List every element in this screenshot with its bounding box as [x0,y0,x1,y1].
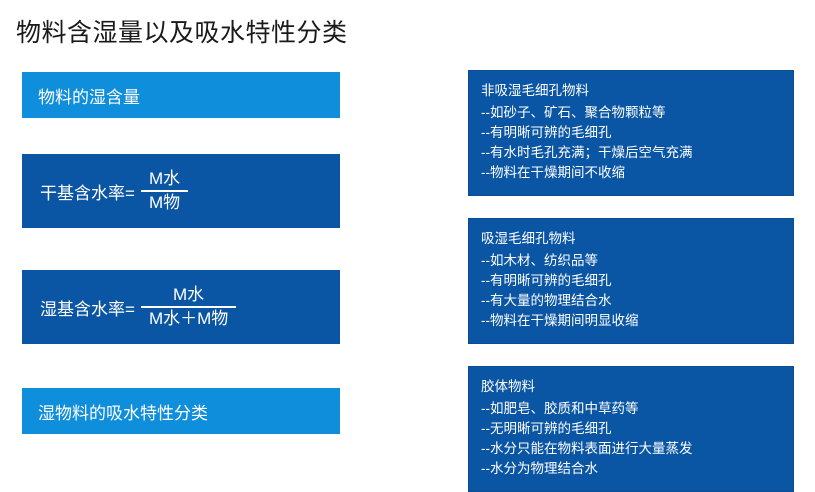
wet-basis-fraction: M水 M水＋M物 [141,286,236,327]
info-box-line: --无明晰可辨的毛细孔 [481,419,781,439]
dry-basis-fraction: M水 M物 [141,170,188,211]
spacer-right-1 [468,196,794,218]
info-box-line: --有大量的物理结合水 [481,291,781,311]
moisture-content-band: 物料的湿含量 [22,72,340,118]
spacer-1 [22,118,340,154]
info-box-line: --水分为物理结合水 [481,459,781,479]
info-box-title: 吸湿毛细孔物料 [481,229,781,249]
absorption-classification-band: 湿物料的吸水特性分类 [22,388,340,434]
wet-basis-formula-label: 湿基含水率= [40,295,135,320]
spacer-2 [22,228,340,270]
info-box-line: --物料在干燥期间不收缩 [481,163,781,183]
dry-basis-denominator: M物 [141,192,188,212]
slide-canvas: 物料含湿量以及吸水特性分类 物料的湿含量 干基含水率= M水 M物 湿基含水率=… [0,0,815,484]
info-box-line: --物料在干燥期间明显收缩 [481,311,781,331]
spacer-right-2 [468,344,794,366]
page-title: 物料含湿量以及吸水特性分类 [16,16,348,50]
wet-basis-denominator: M水＋M物 [141,308,236,328]
info-box-line: --有水时毛孔充满；干燥后空气充满 [481,143,781,163]
wet-basis-formula-box: 湿基含水率= M水 M水＋M物 [22,270,340,344]
info-box-colloidal: 胶体物料 --如肥皂、胶质和中草药等 --无明晰可辨的毛细孔 --水分只能在物料… [468,366,794,492]
moisture-content-band-label: 物料的湿含量 [38,83,140,108]
wet-basis-numerator: M水 [165,286,212,306]
dry-basis-formula-box: 干基含水率= M水 M物 [22,154,340,228]
dry-basis-formula-label: 干基含水率= [40,179,135,204]
info-box-line: --有明晰可辨的毛细孔 [481,123,781,143]
info-box-title: 胶体物料 [481,377,781,397]
info-box-line: --如肥皂、胶质和中草药等 [481,399,781,419]
info-box-line: --水分只能在物料表面进行大量蒸发 [481,439,781,459]
info-box-line: --有明晰可辨的毛细孔 [481,271,781,291]
info-box-title: 非吸湿毛细孔物料 [481,81,781,101]
dry-basis-numerator: M水 [141,170,188,190]
absorption-classification-label: 湿物料的吸水特性分类 [38,399,208,424]
info-box-line: --如木材、纺织品等 [481,251,781,271]
left-column: 物料的湿含量 干基含水率= M水 M物 湿基含水率= M水 M水＋M物 湿物料的… [22,72,340,434]
info-box-hygroscopic: 吸湿毛细孔物料 --如木材、纺织品等 --有明晰可辨的毛细孔 --有大量的物理结… [468,218,794,344]
info-box-line: --如砂子、矿石、聚合物颗粒等 [481,103,781,123]
right-column: 非吸湿毛细孔物料 --如砂子、矿石、聚合物颗粒等 --有明晰可辨的毛细孔 --有… [468,70,794,492]
spacer-3 [22,344,340,388]
info-box-non-hygroscopic: 非吸湿毛细孔物料 --如砂子、矿石、聚合物颗粒等 --有明晰可辨的毛细孔 --有… [468,70,794,196]
